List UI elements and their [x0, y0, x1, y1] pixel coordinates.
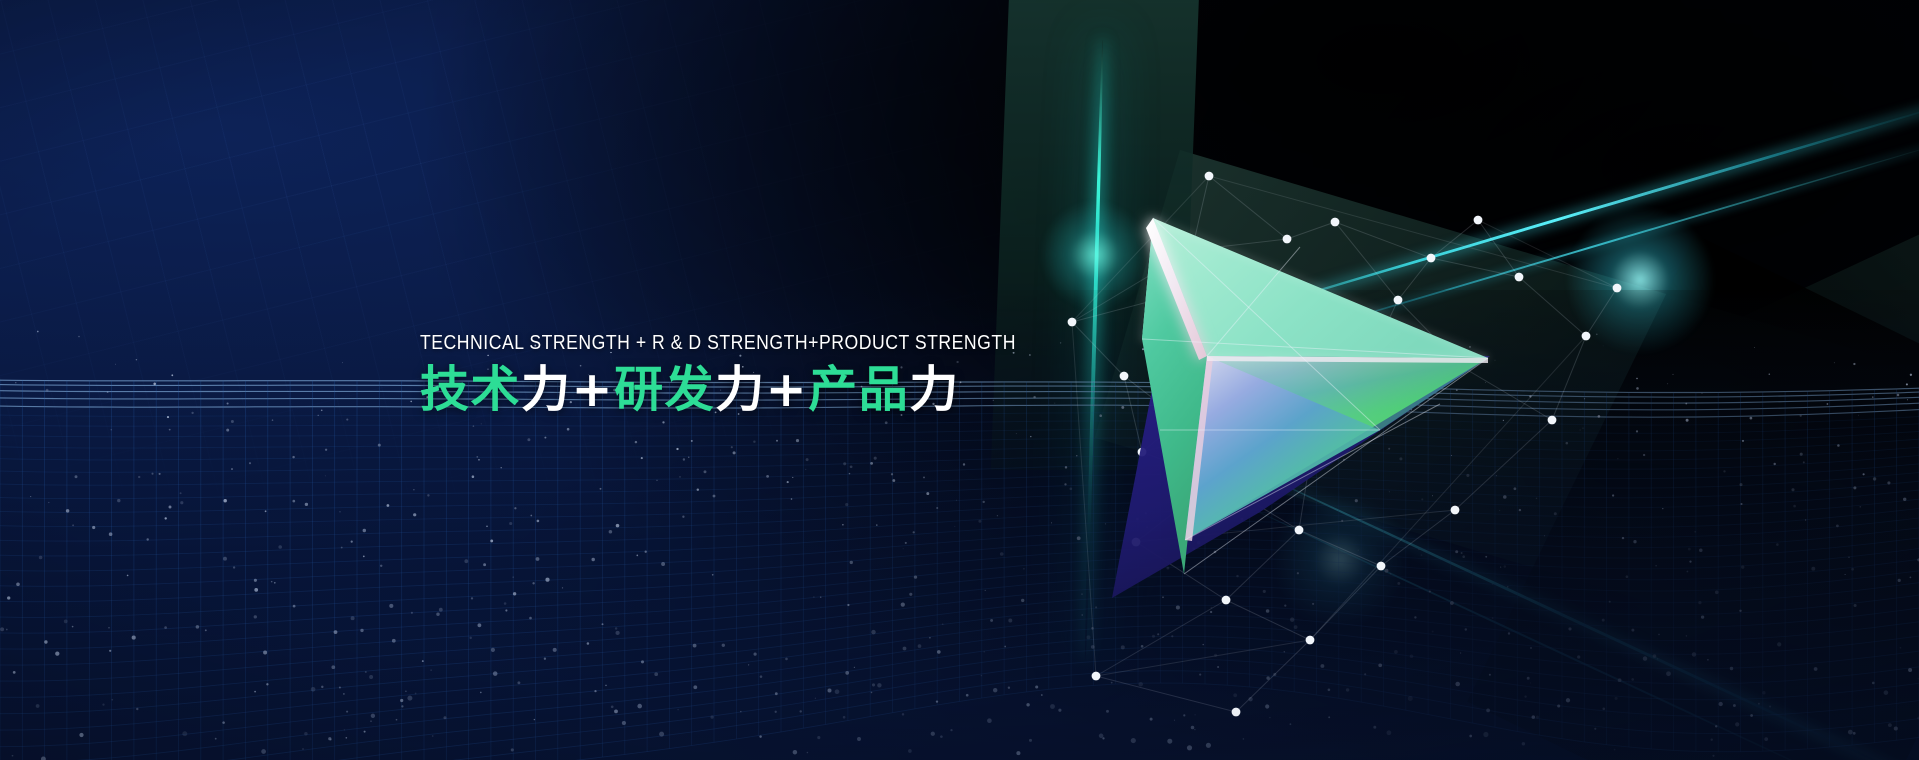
hero-banner: TECHNICAL STRENGTH + R & D STRENGTH+PROD… [0, 0, 1919, 760]
headline-segment-5: + [766, 361, 809, 418]
headline-segment-7: 力 [909, 361, 960, 418]
headline-segment-6: 产品 [808, 361, 909, 418]
headline-segment-0: 技术 [420, 361, 521, 418]
headline-segment-1: 力 [521, 361, 572, 418]
headline-segment-2: + [572, 361, 615, 418]
headline-segment-4: 力 [715, 361, 766, 418]
eyebrow-text: TECHNICAL STRENGTH + R & D STRENGTH+PROD… [420, 330, 1016, 356]
arrow-inner-bowl [1185, 356, 1488, 540]
headline-segment-3: 研发 [614, 361, 715, 418]
headline-block: TECHNICAL STRENGTH + R & D STRENGTH+PROD… [420, 330, 1113, 418]
headline-text: 技术力+研发力+产品力 [420, 363, 1113, 418]
